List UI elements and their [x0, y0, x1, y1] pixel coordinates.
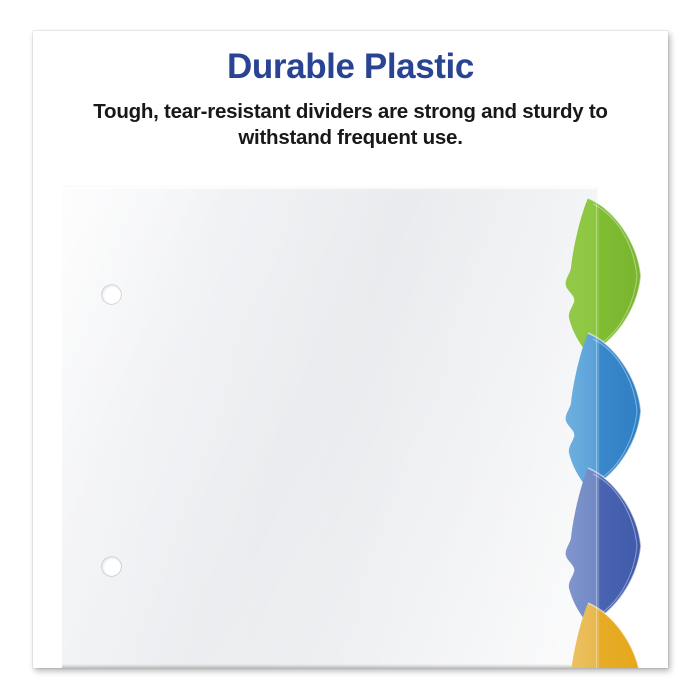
orange-tab[interactable]	[538, 601, 668, 668]
sheet-top-edge	[62, 187, 596, 190]
punch-hole-top	[102, 285, 121, 304]
product-image-card: Durable Plastic Tough, tear-resistant di…	[33, 31, 668, 668]
index-tab-stack	[538, 196, 668, 668]
screenshot-stage: Durable Plastic Tough, tear-resistant di…	[0, 0, 700, 700]
sheet-bottom-edge	[62, 664, 596, 668]
page-title: Durable Plastic	[33, 49, 668, 86]
plastic-divider-sheet	[62, 187, 596, 668]
punch-hole-bottom	[102, 557, 121, 576]
page-subtitle: Tough, tear-resistant dividers are stron…	[63, 99, 638, 151]
sheet-gloss-highlight	[62, 187, 596, 668]
